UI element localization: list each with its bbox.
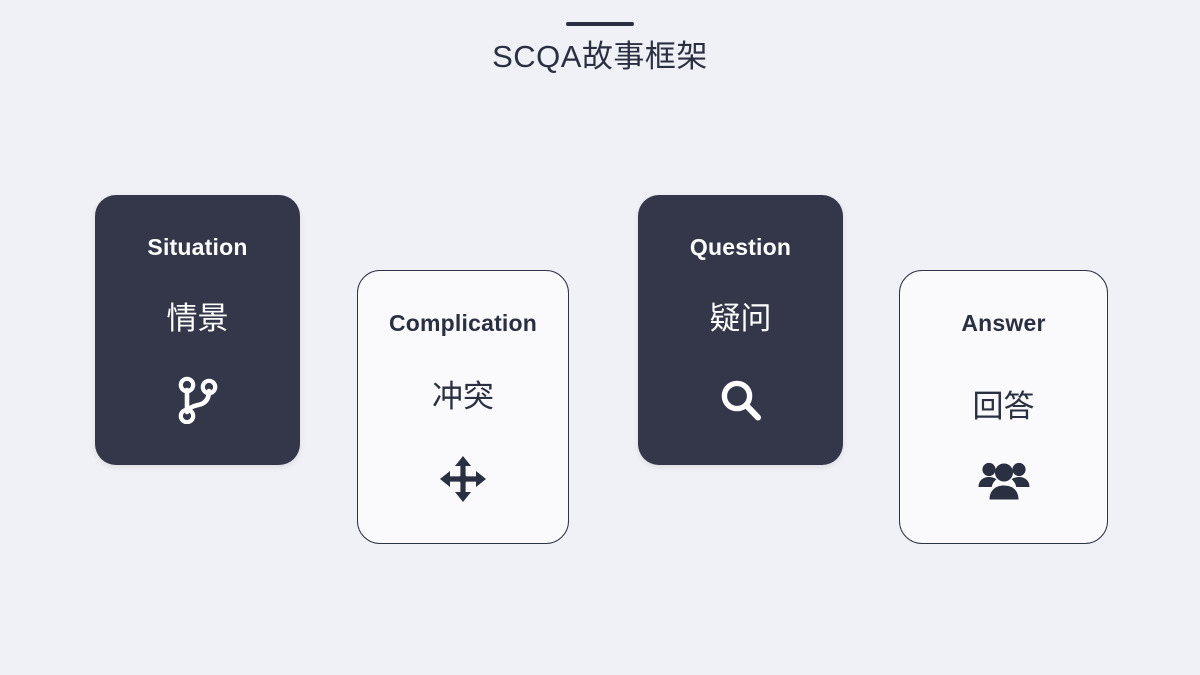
- arrows-move-icon: [440, 456, 486, 502]
- card-question-subtitle: 疑问: [710, 303, 772, 334]
- card-situation[interactable]: Situation 情景: [95, 195, 300, 465]
- card-situation-title: Situation: [147, 236, 247, 259]
- page-title: SCQA故事框架: [0, 40, 1200, 74]
- page-header: SCQA故事框架: [0, 0, 1200, 74]
- card-complication[interactable]: Complication 冲突: [357, 270, 569, 544]
- search-icon: [719, 378, 763, 422]
- card-question[interactable]: Question 疑问: [638, 195, 843, 465]
- card-question-title: Question: [690, 236, 791, 259]
- code-branch-icon: [176, 376, 220, 424]
- card-situation-subtitle: 情景: [167, 303, 229, 334]
- card-answer[interactable]: Answer 回答: [899, 270, 1108, 544]
- title-rule-icon: [566, 22, 634, 26]
- card-complication-title: Complication: [389, 312, 537, 335]
- card-answer-subtitle: 回答: [973, 391, 1035, 422]
- card-answer-title: Answer: [961, 312, 1045, 335]
- users-icon: [977, 460, 1031, 500]
- card-complication-subtitle: 冲突: [432, 381, 494, 412]
